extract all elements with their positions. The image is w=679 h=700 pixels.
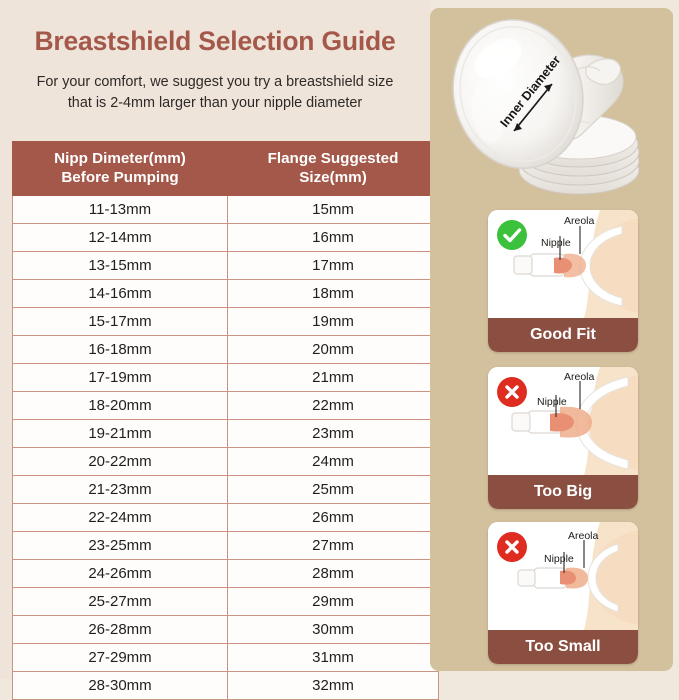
cross-circle-icon [497,377,527,407]
size-chart-table: Nipp Dimeter(mm) Before Pumping Flange S… [12,141,439,700]
cell-nipple-diameter: 22-24mm [13,504,228,532]
column-header-flange-size-line2: Size(mm) [232,168,434,187]
column-header-flange-size-line1: Flange Suggested [232,149,434,168]
cell-flange-size: 29mm [228,588,439,616]
cell-nipple-diameter: 26-28mm [13,616,228,644]
cell-nipple-diameter: 14-16mm [13,280,228,308]
cell-nipple-diameter: 17-19mm [13,364,228,392]
table-row: 28-30mm32mm [13,672,439,700]
cell-flange-size: 16mm [228,224,439,252]
column-header-nipple-diameter: Nipp Dimeter(mm) Before Pumping [13,142,228,196]
table-row: 19-21mm23mm [13,420,439,448]
cell-flange-size: 25mm [228,476,439,504]
table-row: 17-19mm21mm [13,364,439,392]
guide-infographic: Breastshield Selection Guide For your co… [0,0,679,679]
fit-card-too-big: Nipple Areola Too Big [488,367,638,509]
cell-nipple-diameter: 12-14mm [13,224,228,252]
cell-flange-size: 17mm [228,252,439,280]
cell-nipple-diameter: 15-17mm [13,308,228,336]
table-row: 24-26mm28mm [13,560,439,588]
label-nipple: Nipple [537,396,567,408]
cell-flange-size: 23mm [228,420,439,448]
cell-flange-size: 32mm [228,672,439,700]
label-areola: Areola [564,215,594,227]
table-row: 21-23mm25mm [13,476,439,504]
table-row: 15-17mm19mm [13,308,439,336]
table-header-row: Nipp Dimeter(mm) Before Pumping Flange S… [13,142,439,196]
column-header-flange-size: Flange Suggested Size(mm) [228,142,439,196]
cell-nipple-diameter: 13-15mm [13,252,228,280]
cell-nipple-diameter: 28-30mm [13,672,228,700]
cell-nipple-diameter: 19-21mm [13,420,228,448]
table-row: 11-13mm15mm [13,196,439,224]
cell-nipple-diameter: 24-26mm [13,560,228,588]
table-row: 25-27mm29mm [13,588,439,616]
cell-flange-size: 24mm [228,448,439,476]
breastshield-photo: Inner Diameter [436,10,673,206]
table-row: 27-29mm31mm [13,644,439,672]
cell-nipple-diameter: 18-20mm [13,392,228,420]
table-head: Nipp Dimeter(mm) Before Pumping Flange S… [13,142,439,196]
fit-card-too-small: Nipple Areola Too Small [488,522,638,664]
cell-nipple-diameter: 21-23mm [13,476,228,504]
subtitle-line-2: that is 2-4mm larger than your nipple di… [12,93,418,114]
left-content-column: Breastshield Selection Guide For your co… [0,0,430,679]
subtitle: For your comfort, we suggest you try a b… [12,72,418,114]
label-nipple: Nipple [541,237,571,249]
cross-circle-icon [497,532,527,562]
cell-flange-size: 30mm [228,616,439,644]
cell-flange-size: 26mm [228,504,439,532]
table-row: 12-14mm16mm [13,224,439,252]
check-circle-icon [497,220,527,250]
cell-flange-size: 20mm [228,336,439,364]
cell-flange-size: 28mm [228,560,439,588]
subtitle-line-1: For your comfort, we suggest you try a b… [37,74,394,90]
cell-flange-size: 31mm [228,644,439,672]
good-fit-caption: Good Fit [488,318,638,352]
label-areola: Areola [568,530,598,542]
cell-flange-size: 18mm [228,280,439,308]
cell-flange-size: 21mm [228,364,439,392]
table-row: 16-18mm20mm [13,336,439,364]
page-title: Breastshield Selection Guide [0,26,430,57]
cell-nipple-diameter: 16-18mm [13,336,228,364]
table-row: 14-16mm18mm [13,280,439,308]
cell-nipple-diameter: 20-22mm [13,448,228,476]
table-row: 18-20mm22mm [13,392,439,420]
table-row: 22-24mm26mm [13,504,439,532]
table-row: 26-28mm30mm [13,616,439,644]
cell-nipple-diameter: 25-27mm [13,588,228,616]
too-small-caption: Too Small [488,630,638,664]
column-header-nipple-diameter-line1: Nipp Dimeter(mm) [17,149,223,168]
table-row: 23-25mm27mm [13,532,439,560]
column-header-nipple-diameter-line2: Before Pumping [17,168,223,187]
cell-flange-size: 22mm [228,392,439,420]
cell-nipple-diameter: 27-29mm [13,644,228,672]
cell-flange-size: 27mm [228,532,439,560]
cell-flange-size: 15mm [228,196,439,224]
table-row: 13-15mm17mm [13,252,439,280]
cell-nipple-diameter: 11-13mm [13,196,228,224]
table-body: 11-13mm15mm12-14mm16mm13-15mm17mm14-16mm… [13,196,439,700]
cell-flange-size: 19mm [228,308,439,336]
too-big-caption: Too Big [488,475,638,509]
label-nipple: Nipple [544,553,574,565]
label-areola: Areola [564,371,594,383]
fit-card-good-fit: Nipple Areola Good Fit [488,210,638,352]
cell-nipple-diameter: 23-25mm [13,532,228,560]
table-row: 20-22mm24mm [13,448,439,476]
